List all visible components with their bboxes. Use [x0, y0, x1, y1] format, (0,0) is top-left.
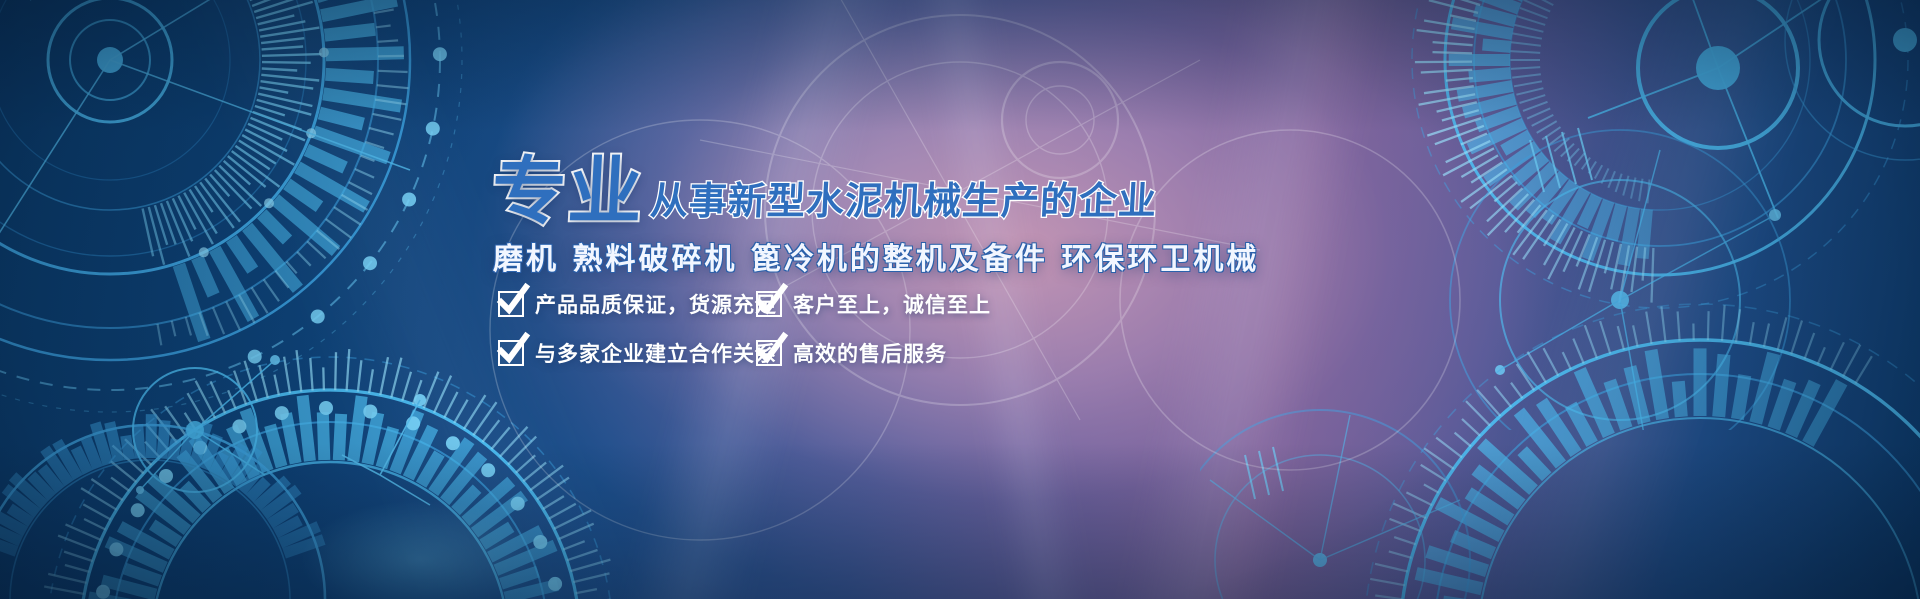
- checkmark-icon: [756, 291, 782, 317]
- headline-rest: 从事新型水泥机械生产的企业: [649, 182, 1158, 220]
- feature-list: 产品品质保证，货源充足 客户至上，诚信至上 与多家企业建立合作关系: [498, 289, 991, 368]
- feature-label: 与多家企业建立合作关系: [535, 338, 777, 368]
- product-subline: 磨机 熟料破碎机 篦冷机的整机及备件 环保环卫机械: [493, 234, 1259, 278]
- feature-label: 客户至上，诚信至上: [793, 289, 991, 319]
- feature-item: 客户至上，诚信至上: [756, 289, 991, 319]
- feature-label: 高效的售后服务: [793, 338, 947, 368]
- checkmark-icon: [756, 340, 782, 366]
- hero-banner: 专业 从事新型水泥机械生产的企业 磨机 熟料破碎机 篦冷机的整机及备件 环保环卫…: [0, 0, 1920, 599]
- checkmark-icon: [498, 340, 524, 366]
- headline: 专业 从事新型水泥机械生产的企业: [492, 157, 1157, 228]
- feature-item: 与多家企业建立合作关系: [498, 338, 742, 368]
- feature-item: 高效的售后服务: [756, 338, 991, 368]
- feature-label: 产品品质保证，货源充足: [535, 289, 777, 319]
- checkmark-icon: [498, 291, 524, 317]
- headline-emphasis: 专业: [490, 157, 646, 228]
- feature-item: 产品品质保证，货源充足: [498, 289, 742, 319]
